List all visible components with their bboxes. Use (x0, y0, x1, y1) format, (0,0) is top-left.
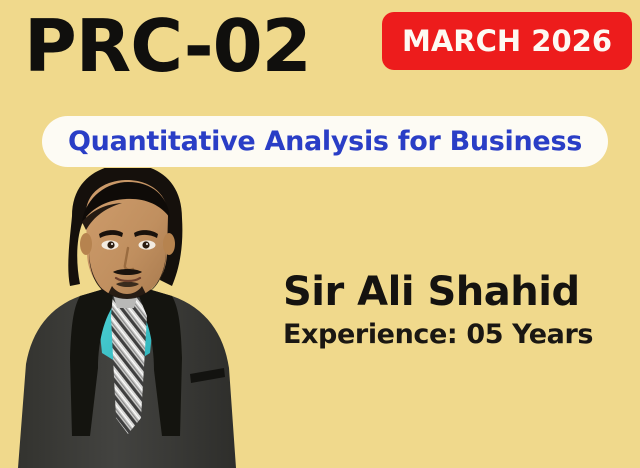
instructor-experience: Experience: 05 Years (283, 320, 603, 350)
instructor-portrait-illustration (10, 168, 260, 468)
course-poster: PRC-02 MARCH 2026 Quantitative Analysis … (0, 0, 640, 468)
month-badge: MARCH 2026 (382, 12, 632, 70)
subject-banner-label: Quantitative Analysis for Business (68, 126, 582, 157)
instructor-name: Sir Ali Shahid (283, 270, 603, 314)
instructor-photo (10, 168, 260, 468)
subject-banner: Quantitative Analysis for Business (42, 116, 608, 167)
instructor-info: Sir Ali Shahid Experience: 05 Years (283, 270, 603, 350)
course-code: PRC-02 (24, 10, 311, 82)
month-badge-label: MARCH 2026 (402, 24, 612, 58)
